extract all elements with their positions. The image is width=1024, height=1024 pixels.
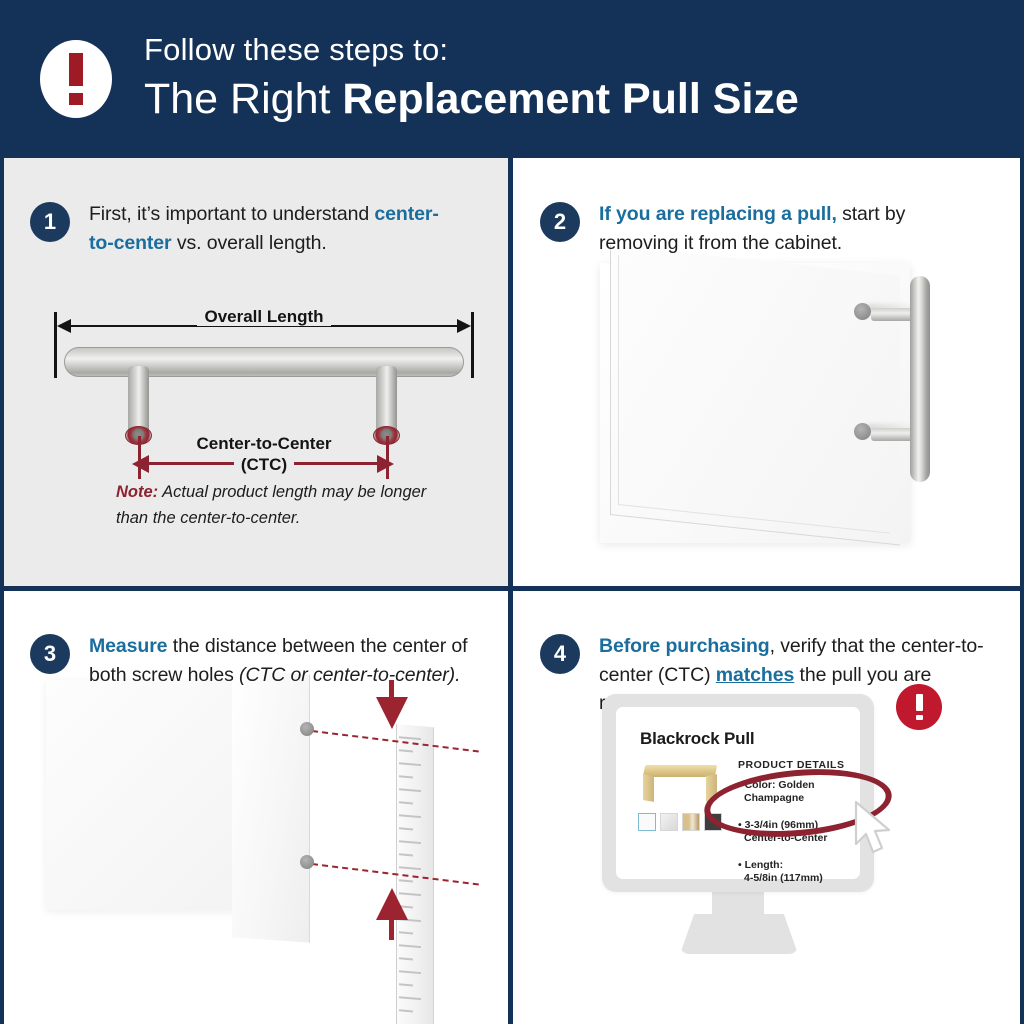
header-eyebrow: Follow these steps to:	[144, 32, 799, 68]
ruler-tick	[399, 788, 421, 792]
note-prefix: Note:	[116, 483, 158, 501]
page-header: Follow these steps to: The Right Replace…	[0, 0, 1024, 158]
page-title-bold: Replacement Pull Size	[342, 75, 798, 123]
ruler-tick	[399, 879, 413, 882]
ruler-tick	[399, 931, 413, 934]
measure-arrow-up-stem	[389, 920, 394, 940]
pull-post-right	[376, 366, 397, 432]
cabinet-door-edge-p3	[232, 669, 310, 942]
step-3-copy: Measure the distance between the center …	[89, 632, 470, 689]
ruler-tick	[399, 866, 421, 870]
bar-pull-graphic	[910, 276, 930, 482]
screw-hole-bottom-p3	[300, 855, 314, 869]
ruler-tick	[399, 970, 421, 974]
step-4-text-bold: Before purchasing	[599, 635, 770, 657]
vertical-divider	[508, 158, 513, 1024]
ruler-tick	[399, 749, 413, 752]
panel-step-1: 1 First, it’s important to understand ce…	[4, 158, 510, 586]
ruler-tick	[399, 814, 421, 818]
step-1-text-a: First, it’s important to understand	[89, 203, 374, 225]
product-title: Blackrock Pull	[640, 729, 754, 749]
ctc-sub-label: (CTC)	[54, 455, 474, 475]
step-4-link-matches[interactable]: matches	[716, 664, 794, 686]
monitor-base	[680, 914, 798, 954]
panel-1-note: Note: Actual product length may be longe…	[116, 480, 456, 531]
right-edge-border	[1020, 158, 1024, 1024]
ruler-tick	[399, 762, 421, 766]
panel-step-4: 4 Before purchasing, verify that the cen…	[514, 592, 1024, 1024]
mouse-pointer-cursor	[852, 800, 896, 856]
ruler-tick	[399, 775, 413, 778]
product-thumbnail-2[interactable]	[660, 813, 678, 831]
ruler-tick	[399, 996, 421, 1000]
step-2-header: 2 If you are replacing a pull, start by …	[540, 200, 940, 257]
step-3-text-italic: (CTC or center-to-center).	[239, 664, 460, 686]
step-1-text-b: vs. overall length.	[172, 232, 327, 254]
step-3-number: 3	[30, 634, 70, 674]
overall-tick-right	[471, 312, 474, 378]
left-edge-border	[0, 158, 4, 1024]
step-1-number: 1	[30, 202, 70, 242]
step-2-copy: If you are replacing a pull, start by re…	[599, 200, 940, 257]
overall-length-dimension: Overall Length	[54, 308, 474, 342]
step-2-number: 2	[540, 202, 580, 242]
screw-hole-top-p3	[300, 722, 314, 736]
page-title: The Right Replacement Pull Size	[144, 74, 799, 126]
note-text: Actual product length may be longer than…	[116, 483, 426, 527]
cabinet-door-inset-inner	[618, 255, 890, 534]
measure-arrow-up-icon	[376, 888, 408, 920]
alert-exclamation-icon-panel4	[896, 684, 942, 730]
ruler-tick	[399, 1009, 413, 1012]
product-detail-length-line2: 4-5/8in (117mm)	[738, 872, 856, 885]
step-4-number: 4	[540, 634, 580, 674]
overall-tick-left	[54, 312, 57, 378]
pull-post-bottom	[871, 428, 913, 441]
horizontal-divider	[0, 586, 1024, 591]
panel-step-2: 2 If you are replacing a pull, start by …	[514, 158, 1024, 586]
ruler-tick	[399, 736, 421, 740]
step-1-copy: First, it’s important to understand cent…	[89, 200, 460, 257]
pull-post-top	[871, 308, 913, 321]
product-detail-length-line1: Length:	[738, 859, 856, 872]
measure-arrow-down-icon	[376, 697, 408, 729]
product-thumbnail-3[interactable]	[682, 813, 700, 831]
step-3-text-bold: Measure	[89, 635, 167, 657]
ruler-tick	[399, 840, 421, 844]
ruler-tick	[399, 983, 413, 986]
ctc-label: Center-to-Center	[54, 434, 474, 454]
steps-grid: 1 First, it’s important to understand ce…	[0, 158, 1024, 1024]
overall-length-label: Overall Length	[54, 307, 474, 327]
ruler-tick	[399, 957, 413, 960]
product-thumbnail-1[interactable]	[638, 813, 656, 831]
pull-post-left	[128, 366, 149, 432]
infographic-page: Follow these steps to: The Right Replace…	[0, 0, 1024, 1024]
panel-step-3: 3 Measure the distance between the cente…	[4, 592, 510, 1024]
alert-exclamation-icon	[40, 40, 112, 118]
ruler-tick	[399, 801, 413, 804]
header-text-block: Follow these steps to: The Right Replace…	[144, 32, 799, 125]
step-2-text-bold: If you are replacing a pull,	[599, 203, 837, 225]
ruler-tick	[399, 853, 413, 856]
step-1-header: 1 First, it’s important to understand ce…	[30, 200, 460, 257]
page-title-light: The Right	[144, 75, 342, 123]
ruler-tick	[399, 827, 413, 830]
product-handle-leg-left	[643, 774, 654, 802]
pull-dimension-illustration: Overall Length Center-to-Center (CTC)	[54, 308, 474, 468]
step-3-header: 3 Measure the distance between the cente…	[30, 632, 470, 689]
screw-hole-bottom	[854, 423, 871, 440]
ruler-tick	[399, 944, 421, 948]
screw-hole-top	[854, 303, 871, 320]
pull-bar-graphic	[64, 347, 464, 377]
product-detail-length: Length: 4-5/8in (117mm)	[738, 859, 856, 886]
